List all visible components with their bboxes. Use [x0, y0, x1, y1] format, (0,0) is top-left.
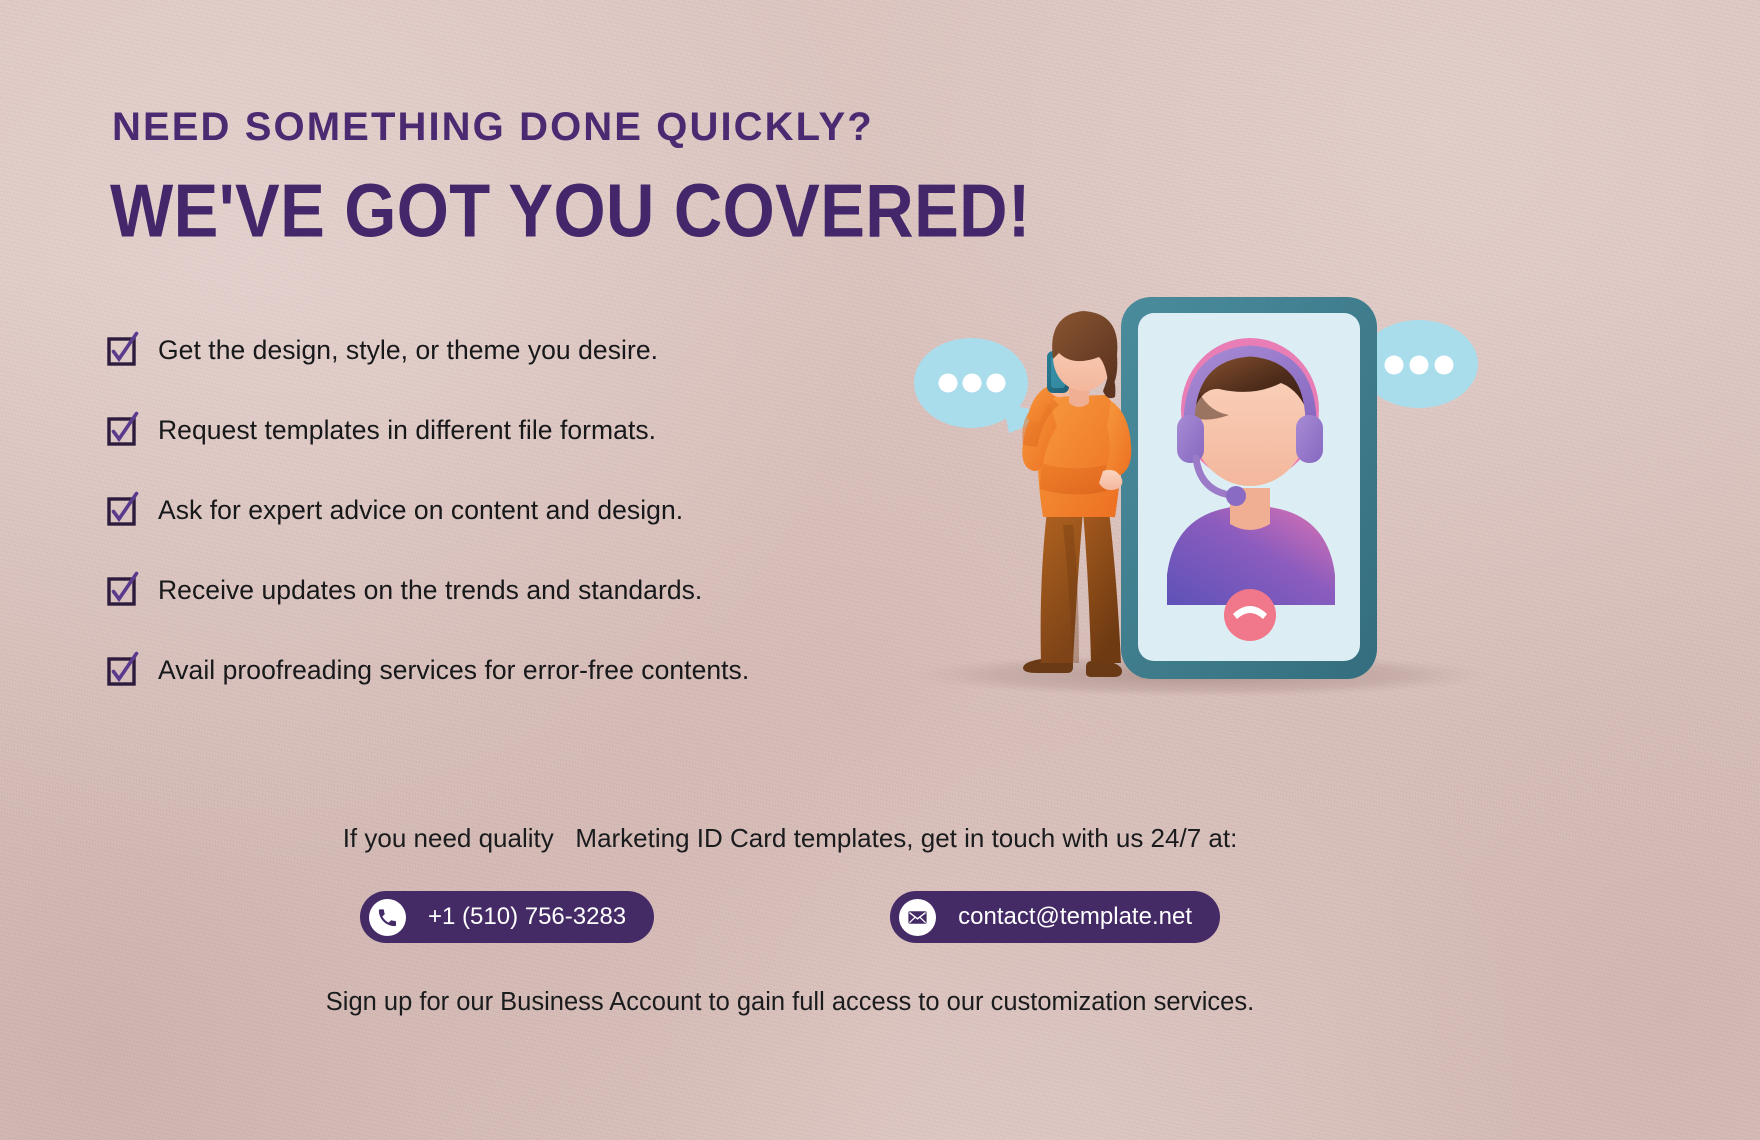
kicker-heading: NEED SOMETHING DONE QUICKLY? — [112, 105, 874, 150]
phone-icon — [369, 899, 406, 936]
headset-mic-tip — [1226, 486, 1246, 506]
bubble-dot — [1435, 356, 1454, 375]
list-item-label: Receive updates on the trends and standa… — [158, 575, 702, 606]
bubble-dot — [987, 374, 1006, 393]
standing-woman-on-phone — [1022, 311, 1131, 677]
list-item: Receive updates on the trends and standa… — [107, 550, 927, 630]
bubble-dot — [1410, 356, 1429, 375]
bubble-dot — [963, 374, 982, 393]
phone-number-label: +1 (510) 756-3283 — [428, 903, 626, 931]
promotional-poster: NEED SOMETHING DONE QUICKLY? WE'VE GOT Y… — [0, 0, 1760, 1140]
main-headline: WE'VE GOT YOU COVERED! — [110, 168, 1031, 254]
list-item-label: Request templates in different file form… — [158, 415, 656, 446]
email-address-label: contact@template.net — [958, 903, 1192, 931]
checkbox-checked-icon — [107, 495, 137, 525]
bubble-dot — [1385, 356, 1404, 375]
checkbox-checked-icon — [107, 575, 137, 605]
signup-footer-text: Sign up for our Business Account to gain… — [0, 988, 1580, 1017]
list-item-label: Ask for expert advice on content and des… — [158, 495, 683, 526]
customer-support-illustration — [905, 275, 1505, 715]
contact-intro-text: If you need quality Marketing ID Card te… — [0, 823, 1580, 854]
checkbox-checked-icon — [107, 655, 137, 685]
checkbox-checked-icon — [107, 415, 137, 445]
list-item: Avail proofreading services for error-fr… — [107, 630, 927, 710]
contact-buttons: +1 (510) 756-3283 contact@template.net — [0, 891, 1580, 943]
checkbox-checked-icon — [107, 335, 137, 365]
email-contact-button[interactable]: contact@template.net — [890, 891, 1220, 943]
end-call-button[interactable] — [1224, 589, 1276, 641]
headset-earcup-left — [1177, 415, 1204, 463]
list-item-label: Get the design, style, or theme you desi… — [158, 335, 658, 366]
end-call-circle[interactable] — [1224, 589, 1276, 641]
benefits-checklist: Get the design, style, or theme you desi… — [107, 310, 927, 710]
list-item: Request templates in different file form… — [107, 390, 927, 470]
trouser-right — [1083, 511, 1121, 663]
phone-contact-button[interactable]: +1 (510) 756-3283 — [360, 891, 654, 943]
list-item: Ask for expert advice on content and des… — [107, 470, 927, 550]
list-item: Get the design, style, or theme you desi… — [107, 310, 927, 390]
headset-earcup-right — [1296, 415, 1323, 463]
envelope-icon — [899, 899, 936, 936]
phone-mockup — [1121, 297, 1377, 679]
list-item-label: Avail proofreading services for error-fr… — [158, 655, 749, 686]
bubble-dot — [939, 374, 958, 393]
